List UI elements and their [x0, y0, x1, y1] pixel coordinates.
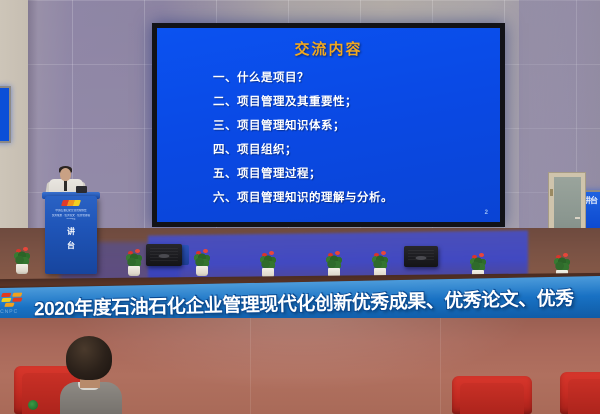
- slide-agenda-list: 一、什么是项目？ 二、项目管理及其重要性； 三、项目管理知识体系； 四、项目组织…: [213, 66, 488, 210]
- potted-flower: [374, 250, 390, 278]
- potted-flower: [328, 250, 344, 278]
- presenter-tie: [64, 180, 67, 191]
- chair-cushion: [460, 383, 524, 414]
- speaker-badge-icon: [159, 254, 170, 258]
- logo-bar: [1, 298, 11, 302]
- flower-pot: [16, 264, 28, 274]
- podium-laptop[interactable]: [76, 186, 87, 193]
- speaker-badge-icon: [416, 256, 427, 260]
- petro-chem-logo-icon: [2, 292, 28, 308]
- banner-logo-subtext: CNPC: [0, 309, 18, 315]
- chair-badge-icon: [28, 400, 38, 410]
- audience-chair[interactable]: [452, 376, 532, 414]
- stage-monitor-speaker: [404, 246, 438, 267]
- flower-pot: [128, 266, 140, 276]
- slide-agenda-item: 三、项目管理知识体系；: [213, 114, 488, 138]
- logo-bar: [12, 298, 22, 302]
- speaker-podium: 中国石油石化企业管理协会 优秀成果 · 优秀论文 · 优秀管理者 2020年度 …: [45, 196, 97, 274]
- podium-text-line-1: 中国石油石化企业管理协会: [50, 209, 92, 212]
- slide-agenda-item: 一、什么是项目？: [213, 66, 488, 90]
- potted-flower: [16, 246, 32, 274]
- slide-agenda-item: 四、项目组织；: [213, 138, 488, 162]
- slide-page-number: 2: [485, 210, 488, 216]
- slide-agenda-item: 五、项目管理过程；: [213, 162, 488, 186]
- audience-chair[interactable]: [560, 372, 600, 414]
- door-hinge-top-icon: [550, 189, 553, 196]
- potted-flower: [262, 250, 278, 278]
- presenter-head: [60, 168, 71, 181]
- podium-character-1: 讲: [45, 226, 97, 237]
- floor-seam: [250, 318, 251, 414]
- seated-attendee-head: [66, 336, 112, 380]
- led-screen-bezel: 交流内容 一、什么是项目？ 二、项目管理及其重要性； 三、项目管理知识体系； 四…: [152, 23, 505, 227]
- potted-flower: [128, 248, 144, 276]
- door-handle-icon[interactable]: [575, 217, 580, 219]
- podium-logo: [61, 200, 81, 206]
- podium-character-2: 台: [45, 240, 97, 251]
- logo-bar: [12, 293, 22, 297]
- slide-title: 交流内容: [157, 38, 500, 59]
- stage-monitor-speaker: [146, 244, 182, 266]
- presentation-slide: 交流内容 一、什么是项目？ 二、项目管理及其重要性； 三、项目管理知识体系； 四…: [157, 28, 500, 222]
- slide-agenda-item: 二、项目管理及其重要性；: [213, 90, 488, 114]
- conference-hall-photo: 讲台 交流内容 一、什么是项目？ 二、项目管理及其重要性； 三、项目管理知识体系…: [0, 0, 600, 414]
- logo-bar: [1, 293, 11, 297]
- flower-pot: [196, 266, 208, 276]
- podium-text-line-3: 2020年度: [50, 218, 92, 221]
- chair-cushion: [568, 379, 600, 414]
- slide-agenda-item: 六、项目管理知识的理解与分析。: [213, 186, 488, 210]
- logo-bar: [4, 303, 14, 307]
- left-wall-display: [0, 86, 11, 143]
- potted-flower: [196, 248, 212, 276]
- floor-seam: [440, 318, 441, 414]
- podium-text-line-2: 优秀成果 · 优秀论文 · 优秀管理者: [50, 214, 92, 217]
